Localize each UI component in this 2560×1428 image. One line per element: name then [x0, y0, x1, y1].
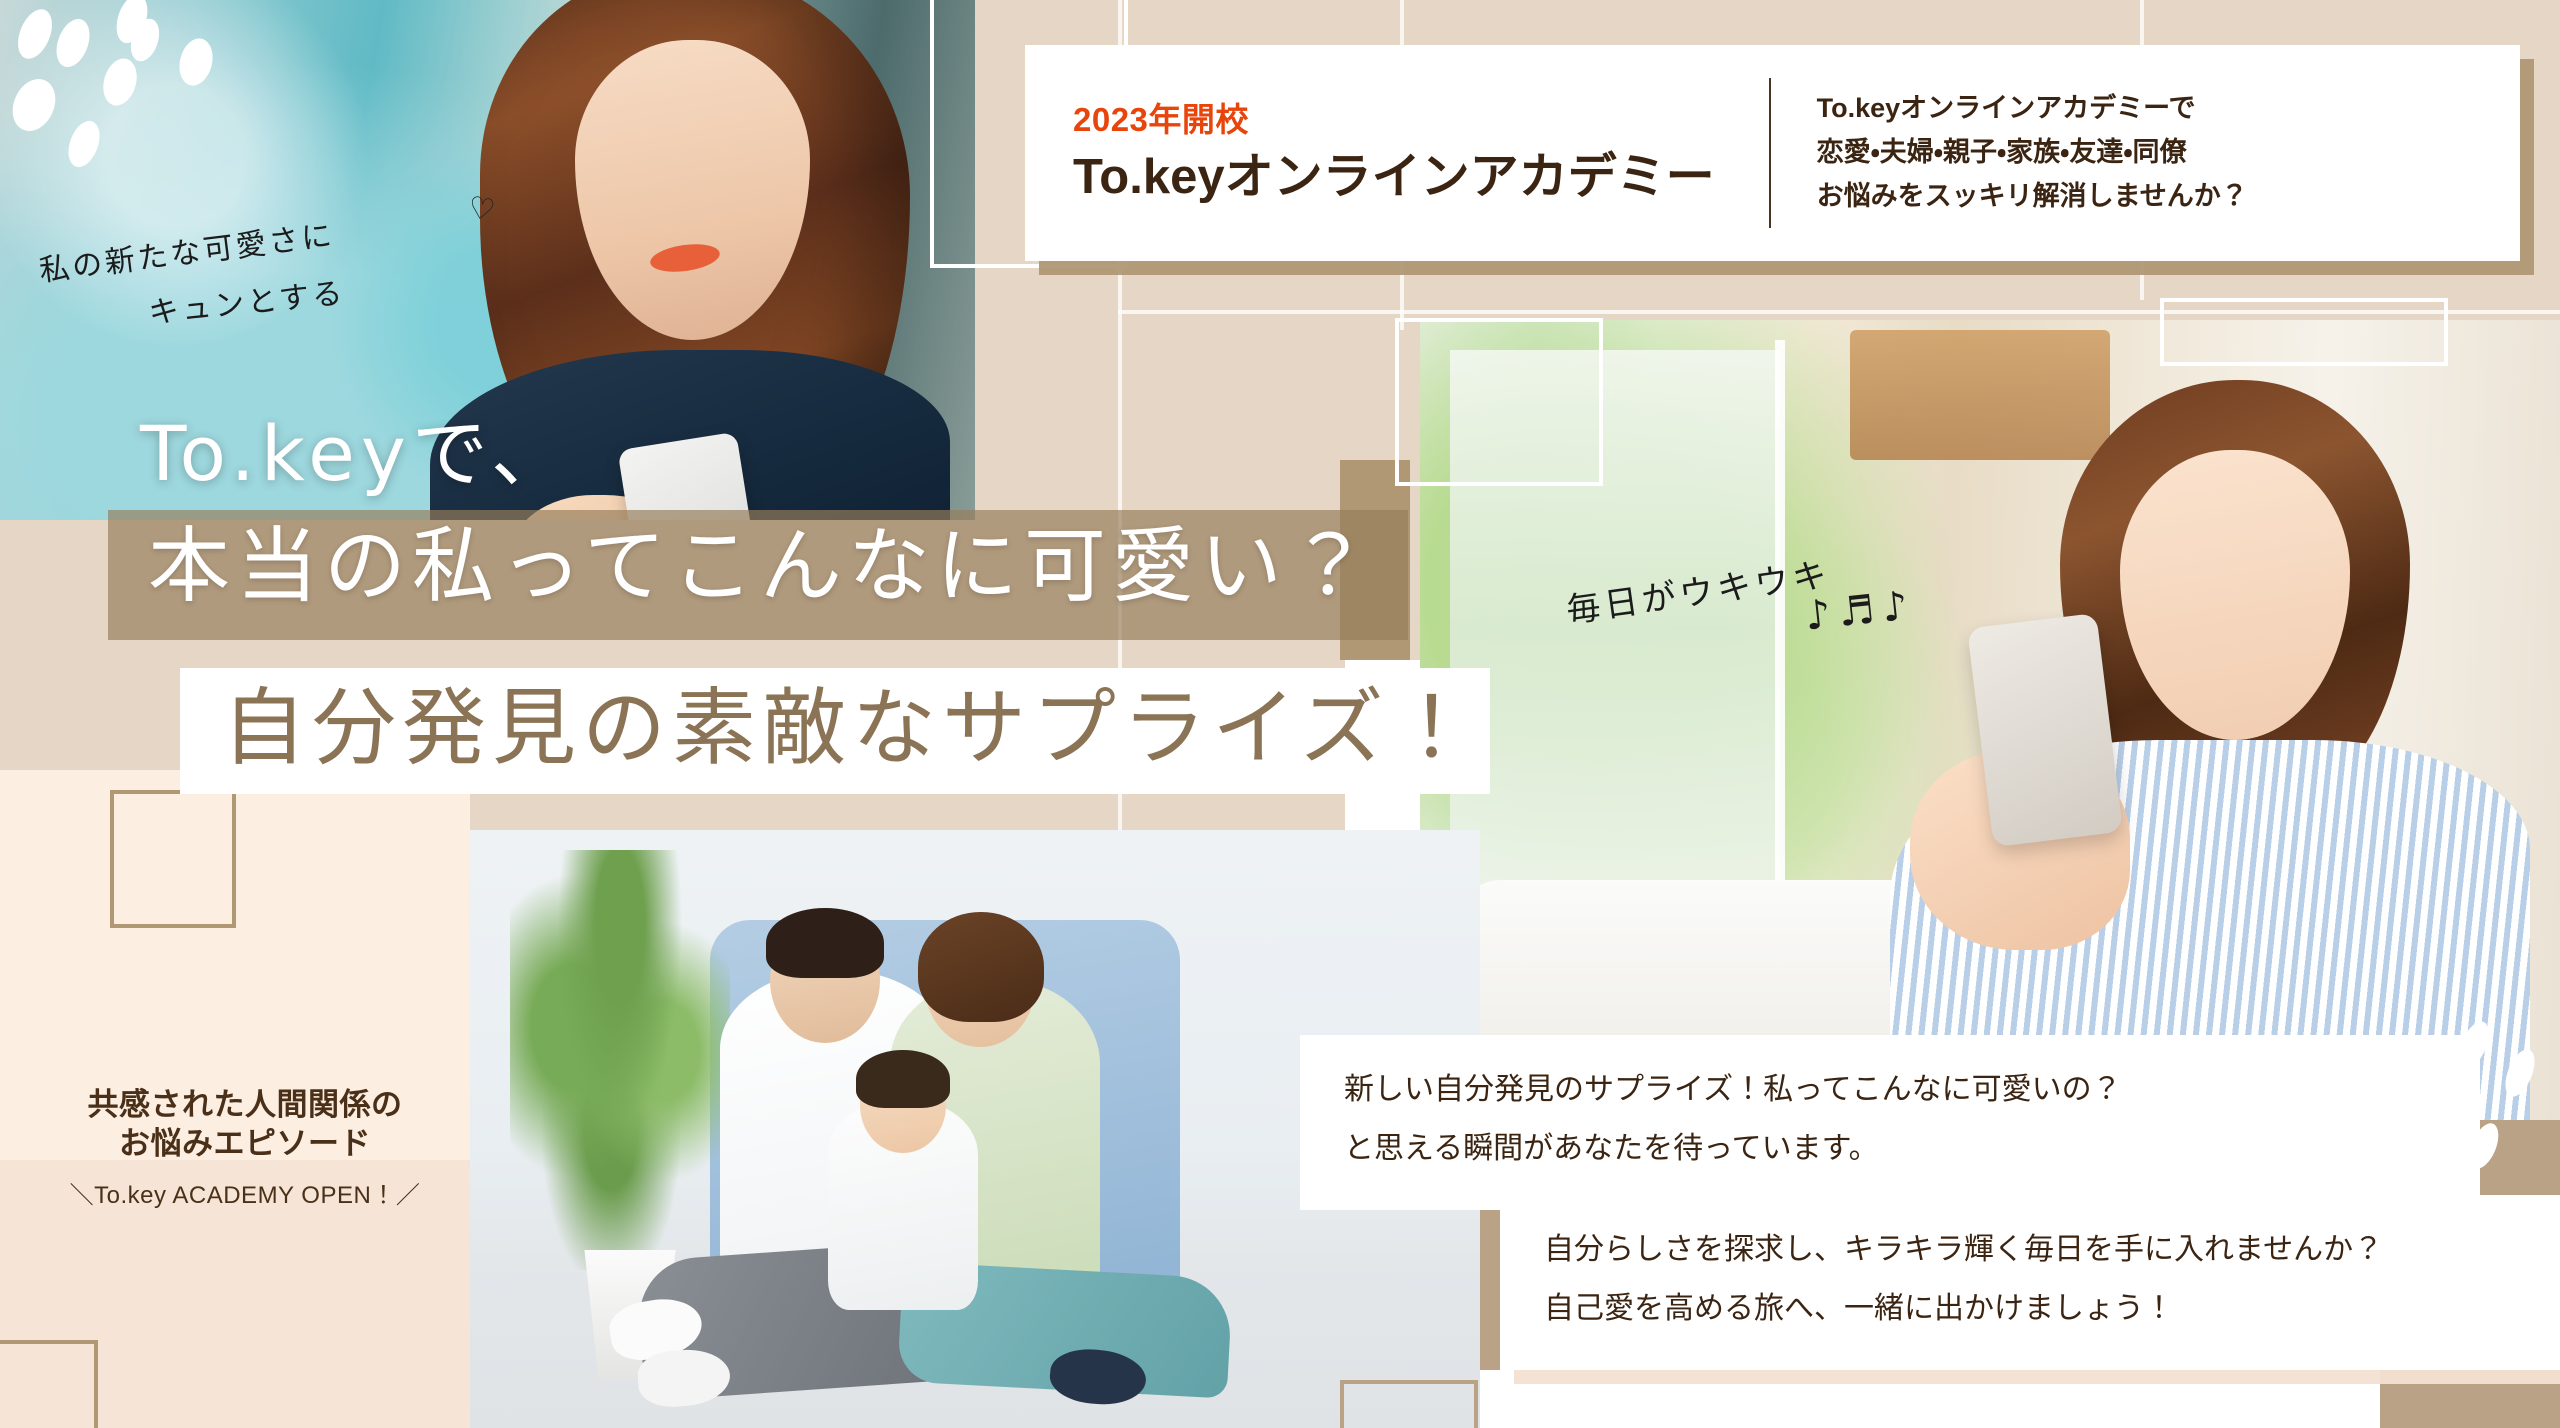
photo-detail-houseplant [510, 850, 730, 1270]
copy-card-bottom: 自分らしさを探求し、キラキラ輝く毎日を手に入れませんか？ 自己愛を高める旅へ、一… [1500, 1195, 2560, 1370]
headline-white-band: 自分発見の素敵なサプライズ！ [180, 668, 1490, 794]
header-left-block: 2023年開校 To.keyオンラインアカデミー [1073, 102, 1769, 204]
copy-line: 新しい自分発見のサプライズ！私ってこんなに可愛いの？ [1344, 1061, 2122, 1120]
episode-open-tag: ＼To.key ACADEMY OPEN！／ [50, 1175, 440, 1210]
decorative-square-outline [1395, 318, 1603, 486]
photo-detail-shelf [1850, 330, 2110, 460]
headline-band: 本当の私ってこんなに可愛い？ [108, 510, 1408, 640]
episode-line-1: 共感された人間関係の [50, 1085, 440, 1124]
decorative-square-outline-brown [0, 1340, 98, 1428]
copy-line: 自己愛を高める旅へ、一緒に出かけましょう！ [1544, 1280, 2383, 1339]
header-lead-line-3: お悩みをスッキリ解消しませんか？ [1817, 175, 2248, 219]
photo-detail-father-hair [766, 908, 884, 978]
decorative-square-outline [2160, 298, 2448, 366]
copy-line: 自分らしさを探求し、キラキラ輝く毎日を手に入れませんか？ [1544, 1221, 2383, 1280]
header-lead-block: To.keyオンラインアカデミーで 恋愛・夫婦・親子・家族・友達・同僚 お悩みを… [1817, 87, 2248, 218]
episode-line-2: お悩みエピソード [50, 1124, 440, 1163]
headline-white-text: 自分発見の素敵なサプライズ！ [222, 682, 1479, 774]
poster-canvas: 2023年開校 To.keyオンラインアカデミー To.keyオンラインアカデミ… [0, 0, 2560, 1428]
header-divider [1769, 78, 1771, 228]
copy-card-top-body: 新しい自分発見のサプライズ！私ってこんなに可愛いの？ と思える瞬間があなたを待っ… [1344, 1061, 2122, 1178]
headline-band-text: 本当の私ってこんなに可愛い？ [148, 526, 1376, 608]
headline-script-line: To.keyで、 [140, 392, 573, 502]
episode-label-block: 共感された人間関係の お悩みエピソード ＼To.key ACADEMY OPEN… [50, 1085, 440, 1210]
academy-name-title: To.keyオンラインアカデミー [1073, 152, 1715, 203]
photo-detail-smartphone [1967, 613, 2123, 847]
copy-card-bottom-body: 自分らしさを探求し、キラキラ輝く毎日を手に入れませんか？ 自己愛を高める旅へ、一… [1544, 1221, 2383, 1338]
decorative-square-outline [2160, 1388, 2298, 1428]
header-card: 2023年開校 To.keyオンラインアカデミー To.keyオンラインアカデミ… [1025, 45, 2520, 261]
copy-card-top: 新しい自分発見のサプライズ！私ってこんなに可愛いの？ と思える瞬間があなたを待っ… [1300, 1035, 2480, 1210]
decorative-square-outline [1340, 1380, 1478, 1428]
copy-line: と思える瞬間があなたを待っています。 [1344, 1120, 2122, 1179]
header-lead-line-1: To.keyオンラインアカデミーで [1817, 87, 2248, 131]
header-lead-line-2: 恋愛・夫婦・親子・家族・友達・同僚 [1817, 131, 2248, 175]
decorative-square-outline-brown [110, 790, 236, 928]
year-badge: 2023年開校 [1073, 102, 1715, 138]
photo-detail-mother-hair [918, 912, 1044, 1022]
photo-detail-child-hair [856, 1050, 950, 1108]
